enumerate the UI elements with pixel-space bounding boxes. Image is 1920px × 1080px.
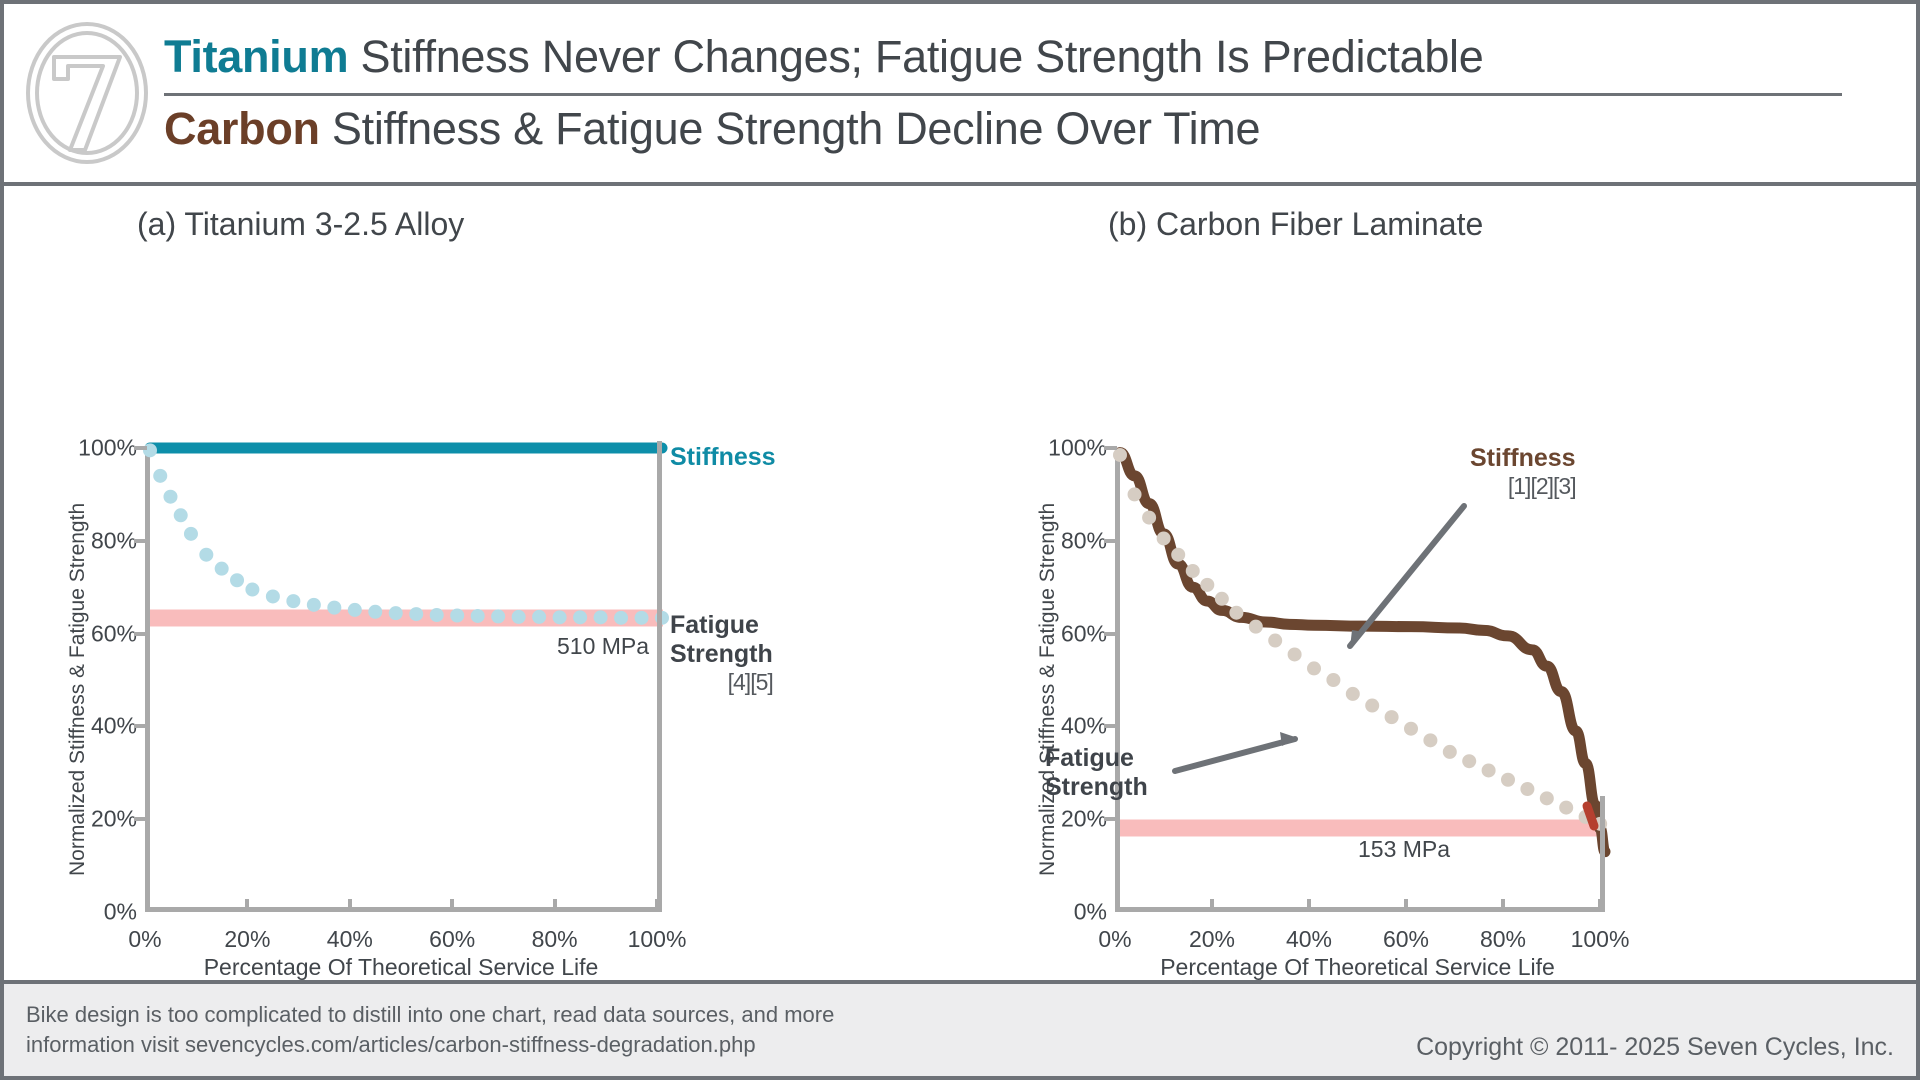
x-tick-label: 40% (327, 926, 373, 953)
series-dot-fatigue-strength (327, 601, 341, 615)
x-tick-mark (450, 899, 454, 912)
x-tick-mark (553, 899, 557, 912)
y-tick-label: 80% (53, 527, 137, 554)
x-tick-mark (655, 899, 659, 912)
chart-panel-carbon: (b) Carbon Fiber Laminate Normalized Sti… (960, 186, 1916, 976)
arrow-stiffness-line (1350, 506, 1464, 646)
footer-note-line-2: information visit sevencycles.com/articl… (26, 1030, 834, 1060)
footer-copyright: Copyright © 2011- 2025 Seven Cycles, Inc… (1416, 1033, 1894, 1076)
chart-title-a: (a) Titanium 3-2.5 Alloy (137, 206, 464, 243)
chart-panel-titanium: (a) Titanium 3-2.5 Alloy Normalized Stif… (4, 186, 960, 976)
header-divider (164, 93, 1842, 96)
series-dot-fatigue-strength (153, 469, 167, 483)
y-tick-mark (134, 539, 147, 543)
footer-note: Bike design is too complicated to distil… (26, 1000, 834, 1059)
y-tick-mark (134, 724, 147, 728)
chart-title-a-index: (a) (137, 206, 176, 242)
legend-refs-b: [1][2][3] (1470, 473, 1576, 500)
legend-label-fatigue-a: Fatigue Strength [4][5] (670, 611, 773, 696)
x-tick-label: 20% (224, 926, 270, 953)
header-title-2-rest: Stiffness & Fatigue Strength Decline Ove… (320, 103, 1261, 154)
arrow-fatigue-head (1280, 732, 1298, 746)
series-dot-fatigue-strength (307, 598, 321, 612)
y-tick-label: 40% (53, 713, 137, 740)
series-dot-fatigue-strength (348, 603, 362, 617)
x-tick-mark (245, 899, 249, 912)
fatigue-limit-value-b: 153 MPa (1358, 836, 1450, 863)
charts-area: (a) Titanium 3-2.5 Alloy Normalized Stif… (4, 186, 1916, 976)
legend-refs-a: [4][5] (670, 669, 773, 696)
y-tick-label: 0% (53, 899, 137, 926)
series-dot-fatigue-strength (553, 610, 567, 624)
series-dot-fatigue-strength (184, 527, 198, 541)
header-titles: Titanium Stiffness Never Changes; Fatigu… (152, 30, 1916, 157)
series-dot-fatigue-strength (512, 610, 526, 624)
legend-label-fatigue-a-line1: Fatigue (670, 611, 773, 640)
series-dot-fatigue-strength (266, 589, 280, 603)
y-tick-label: 100% (53, 435, 137, 462)
series-dot-fatigue-strength (471, 609, 485, 623)
legend-label-stiffness-b: Stiffness [1][2][3] (1470, 444, 1576, 500)
y-tick-mark (134, 632, 147, 636)
x-tick-label: 100% (628, 926, 687, 953)
series-dot-fatigue-strength (245, 583, 259, 597)
x-tick-label: 60% (429, 926, 475, 953)
plot-right-rule-a (657, 441, 662, 912)
series-dot-fatigue-strength (174, 508, 188, 522)
header: Titanium Stiffness Never Changes; Fatigu… (4, 4, 1916, 186)
legend-label-stiffness-a: Stiffness (670, 443, 776, 472)
header-keyword-carbon: Carbon (164, 103, 320, 154)
seven-cycles-logo-icon (22, 18, 152, 168)
y-tick-mark (134, 817, 147, 821)
y-tick-label: 20% (53, 806, 137, 833)
footer-note-line-1: Bike design is too complicated to distil… (26, 1000, 834, 1030)
series-dot-fatigue-strength (409, 607, 423, 621)
series-dot-fatigue-strength (199, 548, 213, 562)
series-dot-fatigue-strength (163, 490, 177, 504)
series-dot-fatigue-strength (368, 605, 382, 619)
series-dot-fatigue-strength (286, 594, 300, 608)
legend-label-stiffness-b-text: Stiffness (1470, 444, 1576, 473)
series-dot-fatigue-strength (215, 562, 229, 576)
series-dot-fatigue-strength (230, 573, 244, 587)
x-tick-mark (348, 899, 352, 912)
x-tick-label: 80% (532, 926, 578, 953)
arrow-stiffness-head (1350, 630, 1364, 648)
infographic-poster: Titanium Stiffness Never Changes; Fatigu… (0, 0, 1920, 1080)
arrow-fatigue-line (1175, 739, 1295, 771)
series-dot-fatigue-strength (614, 611, 628, 625)
legend-label-fatigue-b-line1: Fatigue (1045, 744, 1148, 773)
legend-label-fatigue-b-line2: Strength (1045, 773, 1148, 802)
chart-title-a-text: Titanium 3-2.5 Alloy (184, 206, 464, 242)
y-tick-label: 60% (53, 620, 137, 647)
series-dot-fatigue-strength (594, 610, 608, 624)
legend-label-fatigue-a-line2: Strength (670, 640, 773, 669)
series-dot-fatigue-strength (573, 610, 587, 624)
header-keyword-titanium: Titanium (164, 31, 348, 82)
series-layer-a (150, 448, 662, 912)
series-dot-fatigue-strength (491, 609, 505, 623)
y-tick-mark (134, 446, 147, 450)
series-dot-fatigue-strength (389, 606, 403, 620)
legend-label-fatigue-b: Fatigue Strength (1045, 744, 1148, 802)
footer: Bike design is too complicated to distil… (4, 980, 1916, 1076)
fatigue-limit-value-a: 510 MPa (557, 633, 649, 660)
header-title-line-2: Carbon Stiffness & Fatigue Strength Decl… (164, 102, 1876, 157)
x-axis-label-a: Percentage Of Theoretical Service Life (145, 954, 657, 981)
series-dot-fatigue-strength (532, 610, 546, 624)
header-title-1-rest: Stiffness Never Changes; Fatigue Strengt… (348, 31, 1483, 82)
series-dot-fatigue-strength (635, 611, 649, 625)
x-tick-label: 0% (128, 926, 161, 953)
header-title-line-1: Titanium Stiffness Never Changes; Fatigu… (164, 30, 1876, 91)
series-dot-fatigue-strength (450, 609, 464, 623)
series-dot-fatigue-strength (430, 608, 444, 622)
plot-area-a (145, 448, 657, 912)
